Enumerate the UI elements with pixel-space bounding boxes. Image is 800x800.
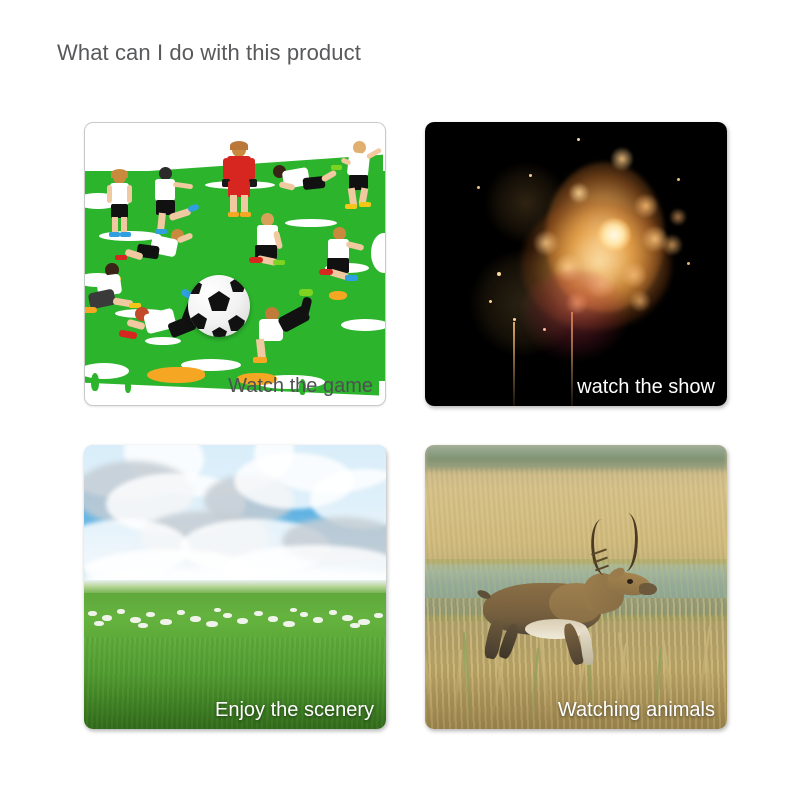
card-caption-watching-animals: Watching animals — [558, 699, 715, 721]
card-caption-watch-the-game: Watch the game — [228, 375, 373, 397]
soccer-illustration — [85, 123, 385, 405]
card-caption-enjoy-the-scenery: Enjoy the scenery — [215, 699, 374, 721]
use-case-card-watch-the-show[interactable]: watch the show — [425, 122, 727, 406]
product-usage-page: What can I do with this product — [0, 0, 800, 800]
use-case-card-watch-the-game[interactable]: Watch the game — [84, 122, 386, 406]
soccer-ball-icon — [188, 275, 250, 337]
card-caption-watch-the-show: watch the show — [577, 376, 715, 398]
antelope-photo — [425, 445, 727, 729]
use-case-card-enjoy-the-scenery[interactable]: Enjoy the scenery — [84, 445, 386, 729]
fireworks-photo — [425, 122, 727, 406]
use-case-card-watching-animals[interactable]: Watching animals — [425, 445, 727, 729]
use-case-card-grid: Watch the game — [84, 122, 728, 730]
grassland-photo — [84, 445, 386, 729]
page-title: What can I do with this product — [57, 40, 361, 66]
